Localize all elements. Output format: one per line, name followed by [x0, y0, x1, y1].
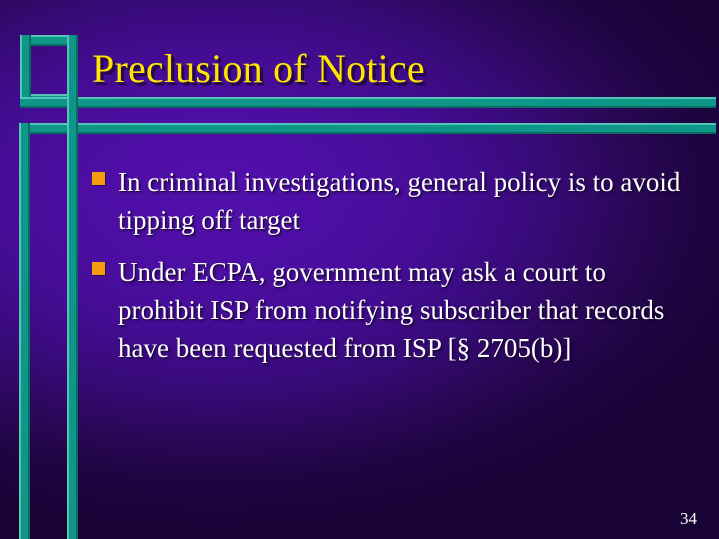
- teal-vertical-column-right: [67, 35, 78, 539]
- slide-body: In criminal investigations, general poli…: [92, 163, 692, 381]
- slide-title: Preclusion of Notice: [92, 45, 425, 93]
- list-item: Under ECPA, government may ask a court t…: [92, 253, 692, 367]
- orange-square-bullet-icon: [92, 172, 105, 185]
- list-item: In criminal investigations, general poli…: [92, 163, 692, 239]
- presentation-slide: Preclusion of Notice In criminal investi…: [0, 0, 719, 539]
- teal-horizontal-rule-upper: [20, 97, 716, 108]
- list-item-text: In criminal investigations, general poli…: [118, 163, 692, 239]
- teal-vertical-column-left: [19, 123, 30, 539]
- teal-horizontal-rule-lower: [20, 123, 716, 134]
- list-item-text: Under ECPA, government may ask a court t…: [118, 253, 692, 367]
- orange-square-bullet-icon: [92, 262, 105, 275]
- page-number: 34: [680, 509, 697, 529]
- teal-square-outline-left: [20, 35, 31, 105]
